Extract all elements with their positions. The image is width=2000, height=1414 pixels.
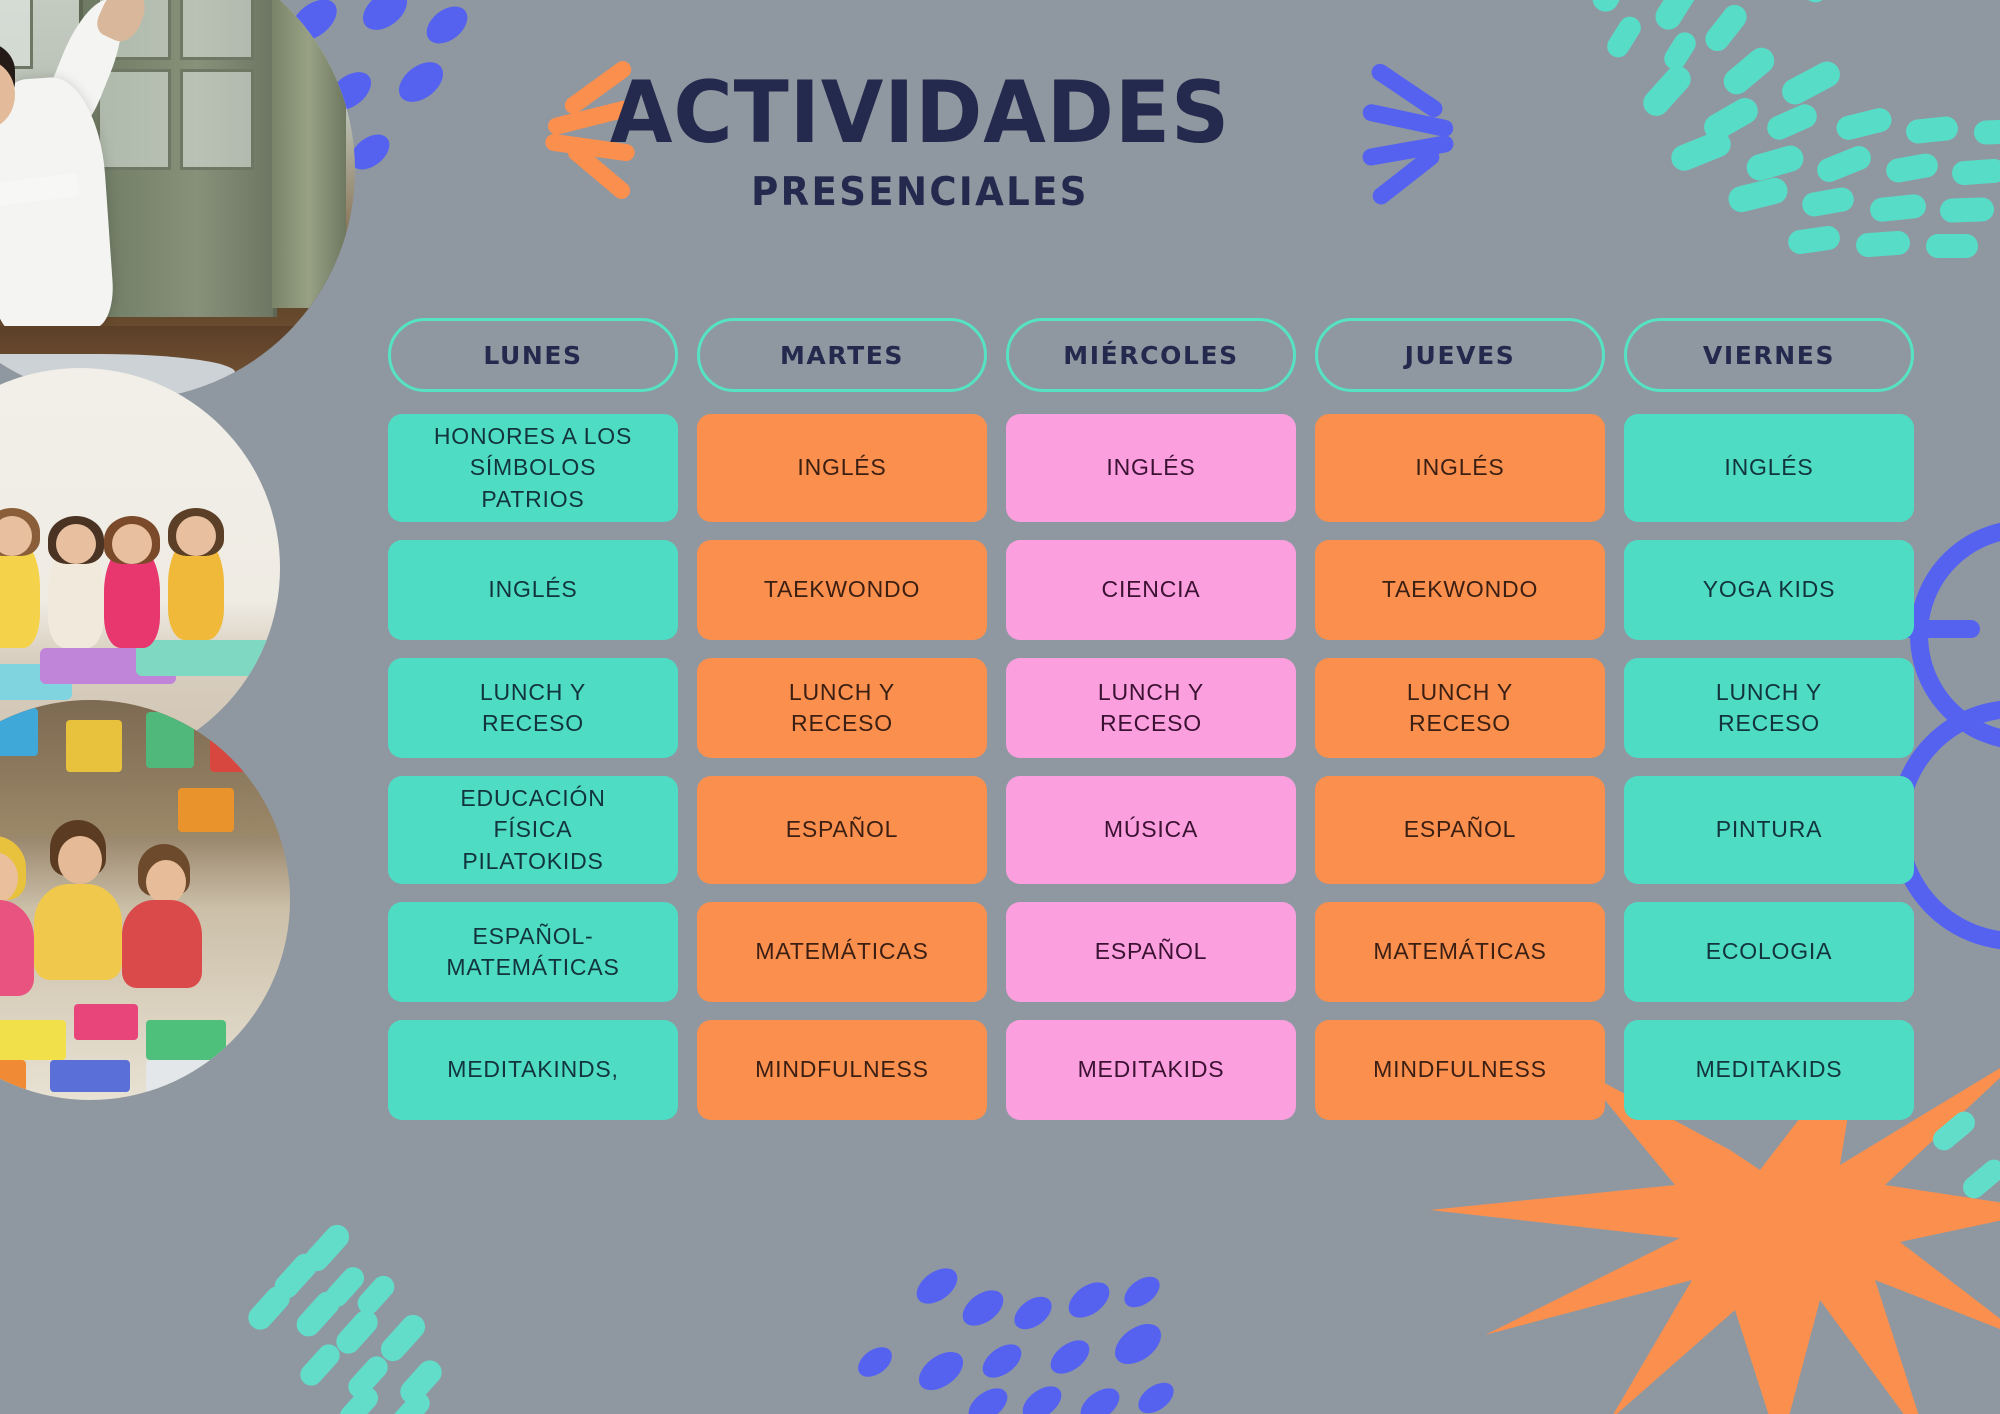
page-header: ACTIVIDADES PRESENCIALES — [540, 70, 1300, 215]
activity-column-martes: INGLÉS TAEKWONDO LUNCH Y RECESO ESPAÑOL … — [697, 414, 987, 1138]
day-pill-lunes[interactable]: LUNES — [388, 318, 678, 392]
day-pill-jueves[interactable]: JUEVES — [1315, 318, 1605, 392]
page-title: ACTIVIDADES — [563, 70, 1277, 156]
activity-cell[interactable]: LUNCH Y RECESO — [1006, 658, 1296, 758]
activity-column-lunes: HONORES A LOS SÍMBOLOS PATRIOS INGLÉS LU… — [388, 414, 678, 1138]
day-pill-viernes[interactable]: VIERNES — [1624, 318, 1914, 392]
activity-cell[interactable]: MINDFULNESS — [1315, 1020, 1605, 1120]
day-pill-martes[interactable]: MARTES — [697, 318, 987, 392]
activity-cell[interactable]: MEDITAKIDS — [1624, 1020, 1914, 1120]
activity-cell[interactable]: MÚSICA — [1006, 776, 1296, 884]
activity-cell[interactable]: MINDFULNESS — [697, 1020, 987, 1120]
activity-cell[interactable]: ESPAÑOL- MATEMÁTICAS — [388, 902, 678, 1002]
activity-rows: HONORES A LOS SÍMBOLOS PATRIOS INGLÉS LU… — [388, 414, 1928, 1138]
activity-cell[interactable]: ESPAÑOL — [1006, 902, 1296, 1002]
column-jueves: JUEVES — [1315, 318, 1605, 392]
column-lunes: LUNES — [388, 318, 678, 392]
activity-cell[interactable]: INGLÉS — [1624, 414, 1914, 522]
activity-cell[interactable]: MATEMÁTICAS — [697, 902, 987, 1002]
activity-cell[interactable]: TAEKWONDO — [697, 540, 987, 640]
activity-column-jueves: INGLÉS TAEKWONDO LUNCH Y RECESO ESPAÑOL … — [1315, 414, 1605, 1138]
activity-cell[interactable]: LUNCH Y RECESO — [388, 658, 678, 758]
activity-column-viernes: INGLÉS YOGA KIDS LUNCH Y RECESO PINTURA … — [1624, 414, 1914, 1138]
activity-cell[interactable]: INGLÉS — [388, 540, 678, 640]
schedule-grid: LUNES MARTES MIÉRCOLES JUEVES VIERNES HO… — [388, 318, 1928, 1138]
activity-cell[interactable]: CIENCIA — [1006, 540, 1296, 640]
activity-cell[interactable]: YOGA KIDS — [1624, 540, 1914, 640]
activity-cell[interactable]: INGLÉS — [1006, 414, 1296, 522]
activity-cell[interactable]: INGLÉS — [1315, 414, 1605, 522]
activity-cell[interactable]: PINTURA — [1624, 776, 1914, 884]
day-header-row: LUNES MARTES MIÉRCOLES JUEVES VIERNES — [388, 318, 1928, 392]
column-miercoles: MIÉRCOLES — [1006, 318, 1296, 392]
activity-cell[interactable]: LUNCH Y RECESO — [1315, 658, 1605, 758]
activity-cell[interactable]: EDUCACIÓN FÍSICA PILATOKIDS — [388, 776, 678, 884]
day-pill-miercoles[interactable]: MIÉRCOLES — [1006, 318, 1296, 392]
activity-cell[interactable]: MEDITAKINDS, — [388, 1020, 678, 1120]
activity-cell[interactable]: MEDITAKIDS — [1006, 1020, 1296, 1120]
column-martes: MARTES — [697, 318, 987, 392]
activity-cell[interactable]: INGLÉS — [697, 414, 987, 522]
column-viernes: VIERNES — [1624, 318, 1914, 392]
activity-cell[interactable]: HONORES A LOS SÍMBOLOS PATRIOS — [388, 414, 678, 522]
page-subtitle: PRESENCIALES — [559, 170, 1281, 215]
activity-cell[interactable]: ESPAÑOL — [1315, 776, 1605, 884]
activity-cell[interactable]: ECOLOGIA — [1624, 902, 1914, 1002]
activity-cell[interactable]: LUNCH Y RECESO — [1624, 658, 1914, 758]
activity-column-miercoles: INGLÉS CIENCIA LUNCH Y RECESO MÚSICA ESP… — [1006, 414, 1296, 1138]
activity-cell[interactable]: TAEKWONDO — [1315, 540, 1605, 640]
activity-cell[interactable]: MATEMÁTICAS — [1315, 902, 1605, 1002]
activity-cell[interactable]: LUNCH Y RECESO — [697, 658, 987, 758]
activity-cell[interactable]: ESPAÑOL — [697, 776, 987, 884]
